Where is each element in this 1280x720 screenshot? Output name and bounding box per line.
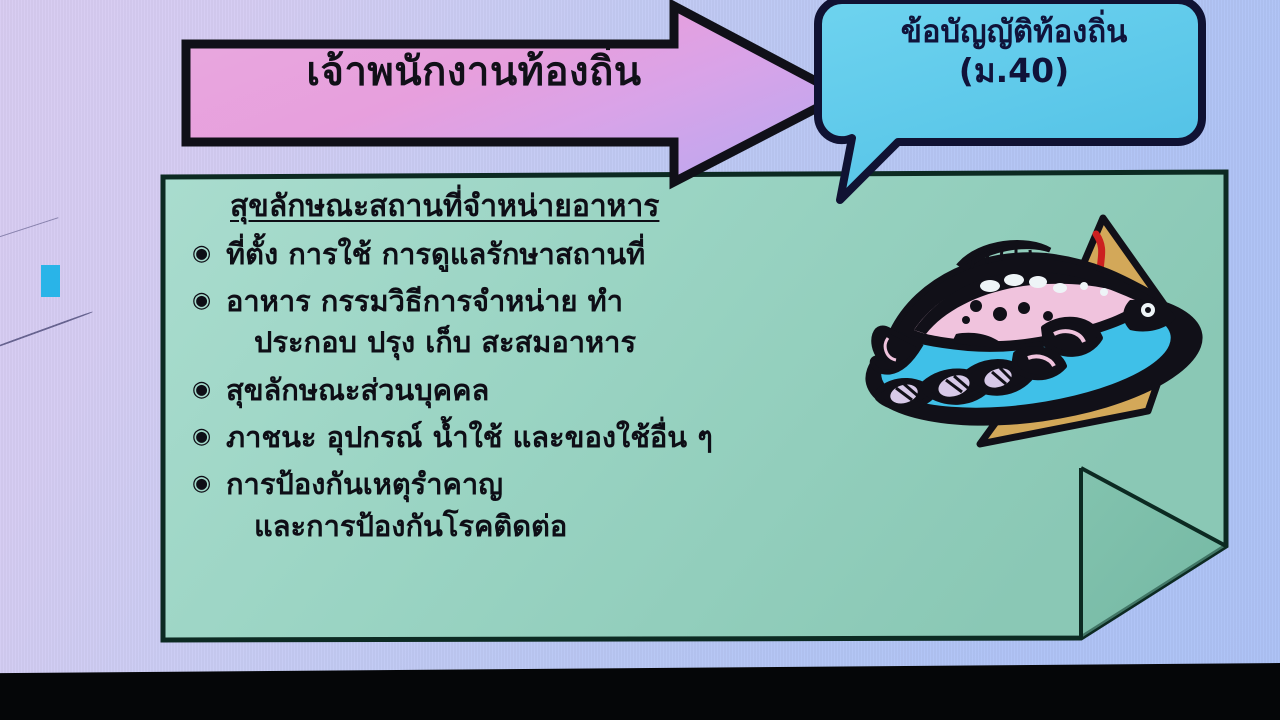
fisheye-bullet-icon: ◉ [192, 467, 226, 500]
list-item-line1: สุขลักษณะส่วนบุคคล [226, 373, 489, 407]
slide-canvas: สุขลักษณะสถานที่จำหน่ายอาหาร ◉ ที่ตั้ง ก… [0, 0, 1280, 720]
list-item-line1: อาหาร กรรมวิธีการจำหน่าย ทำ [226, 284, 623, 318]
screen-bottom-black-bar [0, 663, 1280, 720]
arrow-label: เจ้าพนักงานท้องถิ่น [234, 52, 714, 92]
cyan-artifact-square [41, 265, 60, 297]
local-ordinance-callout: ข้อบัญญัติท้องถิ่น (ม.40) [806, 0, 1210, 212]
list-item-line1: ภาชนะ อุปกรณ์ น้ำใช้ และของใช้อื่น ๆ [226, 420, 713, 454]
fisheye-bullet-icon: ◉ [192, 373, 226, 406]
fish-on-platter-illustration [848, 206, 1220, 458]
list-item-line1: ที่ตั้ง การใช้ การดูแลรักษาสถานที่ [226, 237, 645, 271]
callout-line2: (ม.40) [826, 53, 1202, 89]
fisheye-bullet-icon: ◉ [192, 284, 226, 317]
fisheye-bullet-icon: ◉ [192, 237, 226, 270]
list-item-line1: การป้องกันเหตุรำคาญ [226, 467, 503, 501]
list-item-line2: และการป้องกันโรคติดต่อ [226, 509, 1192, 544]
callout-text-block: ข้อบัญญัติท้องถิ่น (ม.40) [826, 16, 1202, 89]
fisheye-bullet-icon: ◉ [192, 420, 226, 453]
callout-line1: ข้อบัญญัติท้องถิ่น [826, 16, 1202, 49]
local-officer-arrow: เจ้าพนักงานท้องถิ่น [178, 0, 850, 190]
list-item-text: การป้องกันเหตุรำคาญ และการป้องกันโรคติดต… [226, 467, 1192, 544]
list-item: ◉ การป้องกันเหตุรำคาญ และการป้องกันโรคติ… [192, 467, 1192, 544]
